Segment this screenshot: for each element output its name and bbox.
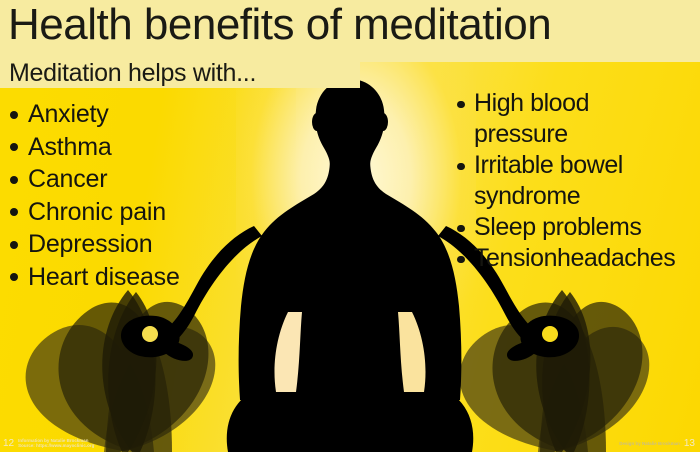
right-mudra-gap — [542, 326, 558, 342]
list-item-continuation: syndrome — [456, 181, 675, 212]
page-title: Health benefits of meditation — [8, 0, 551, 54]
bullet-icon — [457, 163, 465, 171]
list-item: Sleep problems — [456, 212, 675, 243]
list-item: Tensionheadaches — [456, 243, 675, 274]
bullet-icon — [457, 225, 465, 233]
bullet-icon — [10, 208, 18, 216]
list-item: Irritable bowel — [456, 150, 675, 181]
list-item: High blood — [456, 88, 675, 119]
bullet-icon — [457, 101, 465, 109]
benefits-list-left: Anxiety Asthma Cancer Chronic pain Depre… — [8, 98, 180, 293]
page-number-right: 13 — [684, 438, 695, 449]
page-number-left: 12 — [3, 438, 14, 449]
bullet-icon — [10, 111, 18, 119]
bullet-icon — [10, 176, 18, 184]
bullet-icon — [10, 143, 18, 151]
benefit-label: Irritable bowel — [474, 150, 623, 181]
benefit-label: Anxiety — [28, 98, 109, 131]
list-item: Anxiety — [8, 98, 180, 131]
benefit-label: Depression — [28, 228, 152, 261]
bullet-icon — [10, 273, 18, 281]
list-item: Chronic pain — [8, 196, 180, 229]
list-item: Cancer — [8, 163, 180, 196]
benefit-label: Tensionheadaches — [474, 243, 675, 274]
list-item: Depression — [8, 228, 180, 261]
credit-right: Design by Natalie Brockman — [619, 441, 680, 447]
benefit-label-wrap: pressure — [474, 119, 568, 150]
credit-left: Information by Natalie Brockman Source: … — [18, 438, 94, 449]
benefits-list-right: High blood pressure Irritable bowel synd… — [456, 88, 675, 274]
bullet-icon — [457, 256, 465, 264]
page-subtitle: Meditation helps with... — [9, 57, 256, 89]
base-shadow — [240, 428, 460, 452]
bullet-icon — [10, 241, 18, 249]
benefit-label-wrap: syndrome — [474, 181, 580, 212]
lotus-flower-right — [460, 290, 650, 452]
benefit-label: Asthma — [28, 131, 112, 164]
infographic-slide: Health benefits of meditation Meditation… — [0, 0, 700, 452]
benefit-label: Heart disease — [28, 261, 180, 294]
footer-left: 12 Information by Natalie Brockman Sourc… — [3, 438, 94, 449]
left-mudra-gap — [142, 326, 158, 342]
benefit-label: Sleep problems — [474, 212, 641, 243]
benefit-label: High blood — [474, 88, 589, 119]
list-item: Heart disease — [8, 261, 180, 294]
list-item: Asthma — [8, 131, 180, 164]
list-item-continuation: pressure — [456, 119, 675, 150]
footer-right: Design by Natalie Brockman 13 — [619, 438, 695, 449]
benefit-label: Cancer — [28, 163, 107, 196]
benefit-label: Chronic pain — [28, 196, 166, 229]
